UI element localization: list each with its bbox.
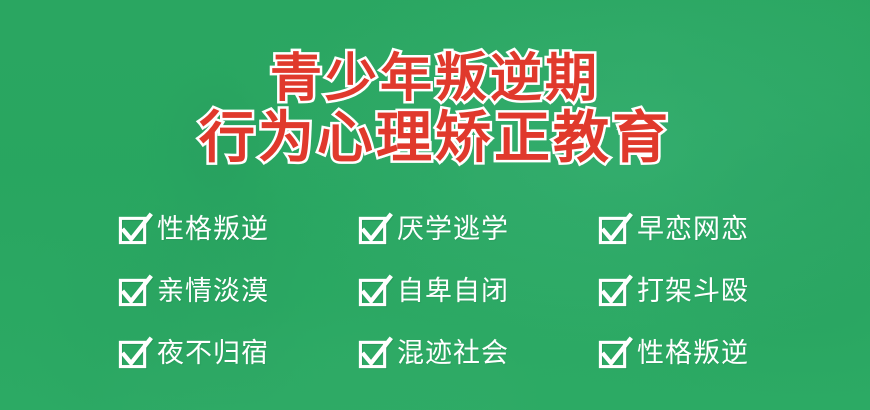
checklist-item-label: 性格叛逆 (157, 216, 269, 243)
checkbox-checked-icon (598, 214, 629, 245)
checklist-item-label: 夜不归宿 (157, 340, 269, 367)
checkbox-checked-icon (598, 276, 629, 307)
checklist-item: 混迹社会 (358, 322, 598, 384)
checklist-item-label: 性格叛逆 (637, 340, 749, 367)
checklist-item-label: 早恋网恋 (637, 216, 749, 243)
checklist-item: 自卑自闭 (358, 260, 598, 322)
checklist-item: 打架斗殴 (598, 260, 838, 322)
checklist-item-label: 亲情淡漠 (157, 278, 269, 305)
checkbox-checked-icon (358, 214, 389, 245)
checklist-item: 性格叛逆 (118, 198, 358, 260)
checklist-item-label: 自卑自闭 (397, 278, 509, 305)
checklist-item-label: 打架斗殴 (637, 278, 749, 305)
checkbox-checked-icon (598, 338, 629, 369)
title-line-2: 行为心理矫正教育 (0, 109, 870, 168)
checklist-item: 早恋网恋 (598, 198, 838, 260)
feature-checklist: 性格叛逆 厌学逃学 早恋网恋 (118, 198, 838, 384)
banner-title: 青少年叛逆期 行为心理矫正教育 (0, 52, 870, 168)
banner-content: 青少年叛逆期 行为心理矫正教育 性格叛逆 (0, 0, 870, 410)
title-line-1: 青少年叛逆期 (0, 52, 870, 107)
checkbox-checked-icon (358, 276, 389, 307)
checkbox-checked-icon (118, 276, 149, 307)
checklist-item: 性格叛逆 (598, 322, 838, 384)
checklist-item-label: 厌学逃学 (397, 216, 509, 243)
checklist-item: 夜不归宿 (118, 322, 358, 384)
promotional-banner: 青少年叛逆期 行为心理矫正教育 性格叛逆 (0, 0, 870, 410)
checklist-item-label: 混迹社会 (397, 340, 509, 367)
checkbox-checked-icon (118, 338, 149, 369)
checklist-item: 亲情淡漠 (118, 260, 358, 322)
checklist-item: 厌学逃学 (358, 198, 598, 260)
checkbox-checked-icon (118, 214, 149, 245)
checkbox-checked-icon (358, 338, 389, 369)
